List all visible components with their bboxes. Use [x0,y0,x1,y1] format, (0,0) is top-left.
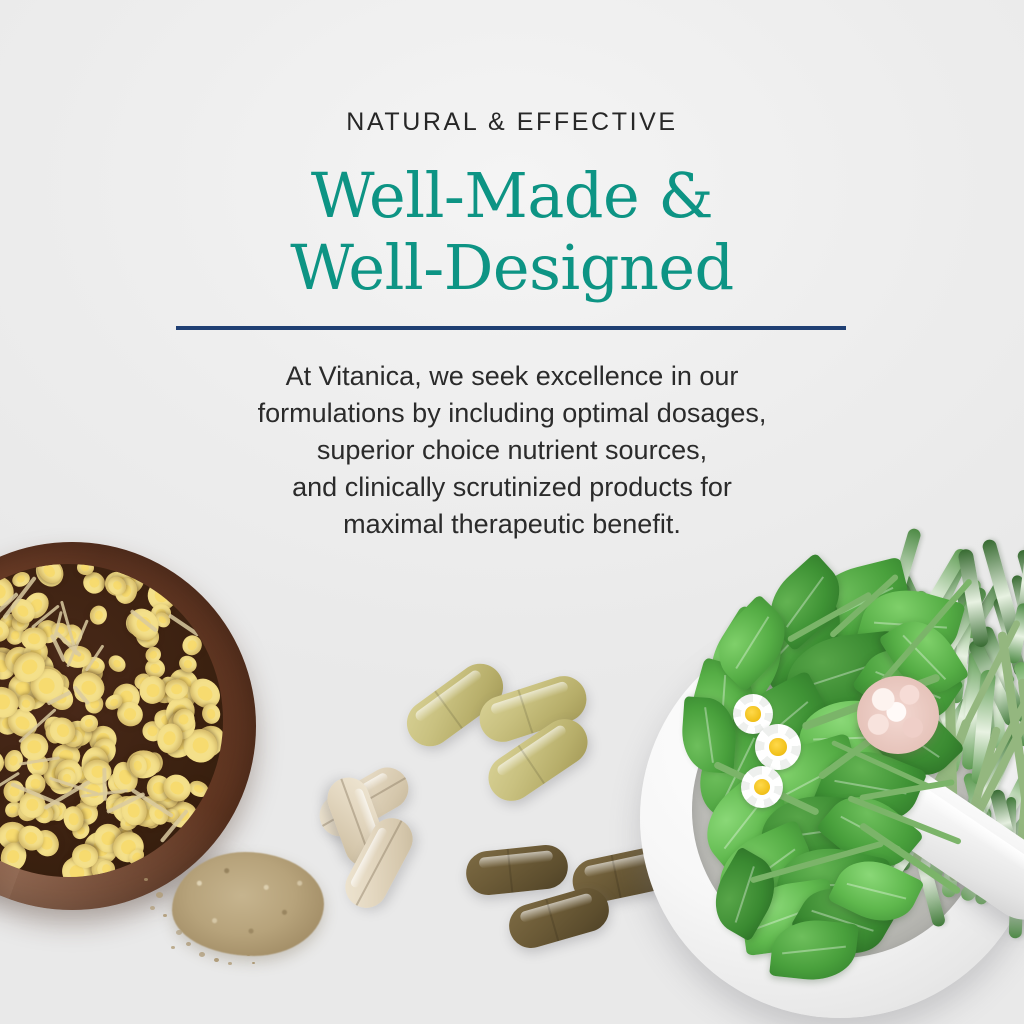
powder-granule [214,958,219,962]
marketing-hero-image: NATURAL & EFFECTIVE Well-Made & Well-Des… [0,0,1024,1024]
brown-capsule-body [504,883,614,953]
chamomile-flower [0,750,4,778]
body-paragraph: At Vitanica, we seek excellence in our f… [0,358,1024,543]
powder-granule [228,962,232,965]
headline-line-2: Well-Designed [0,232,1024,304]
powder-granule [156,892,163,898]
daisy-center [745,706,760,721]
daisy-center [769,738,786,755]
powder-granule [252,962,255,964]
powder-granule [199,952,205,957]
daisy-center [754,779,770,795]
divider-rule [176,326,846,330]
body-line-2: formulations by including optimal dosage… [0,395,1024,432]
brown-capsule [464,843,570,897]
body-line-3: superior choice nutrient sources, [0,432,1024,469]
body-line-5: maximal therapeutic benefit. [0,506,1024,543]
eyebrow-text: NATURAL & EFFECTIVE [0,108,1024,137]
chamomile-bowl [0,542,256,910]
headline-line-1: Well-Made & [0,160,1024,232]
chamomile-flower [165,678,189,699]
powder-granule [186,942,191,946]
daisy-flower [755,724,801,770]
powder-texture [172,852,324,956]
chamomile-flower [105,652,129,675]
brown-capsule-body [464,843,570,897]
brown-capsule [504,883,614,953]
powder-granule [150,906,155,910]
chamomile-flower [0,785,3,818]
herbal-powder-pile [172,852,324,956]
page-title: Well-Made & Well-Designed [0,160,1024,304]
chamomile-flower [88,604,108,626]
pink-umbel-flower [857,676,939,754]
chamomile-stem [102,767,107,800]
powder-granule [171,946,175,949]
body-line-4: and clinically scrutinized products for [0,469,1024,506]
daisy-flower [741,766,783,808]
powder-granule [163,914,167,917]
body-line-1: At Vitanica, we seek excellence in our [0,358,1024,395]
